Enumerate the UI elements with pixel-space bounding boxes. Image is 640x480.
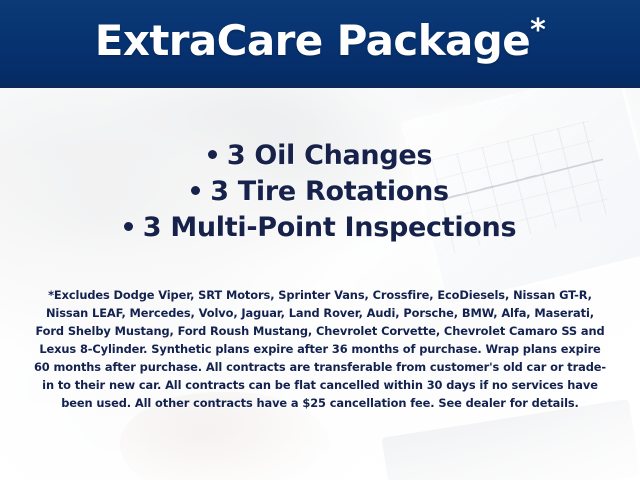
legal-disclaimer: *Excludes Dodge Viper, SRT Motors, Sprin… [30,286,610,412]
benefit-item-multi-point-inspections: 3 Multi-Point Inspections [0,210,640,246]
benefit-label: 3 Multi-Point Inspections [143,212,517,243]
header-banner: ExtraCare Package* [0,0,640,88]
benefit-label: 3 Oil Changes [227,140,432,171]
page-title-asterisk: * [530,13,545,48]
bullet-dot-icon [124,222,133,231]
page-title-text: ExtraCare Package [95,16,530,65]
benefits-list: 3 Oil Changes 3 Tire Rotations 3 Multi-P… [0,138,640,246]
bullet-dot-icon [191,186,200,195]
benefit-label: 3 Tire Rotations [210,176,449,207]
page-title: ExtraCare Package* [95,20,546,66]
benefit-item-tire-rotations: 3 Tire Rotations [0,174,640,210]
benefit-item-oil-changes: 3 Oil Changes [0,138,640,174]
extracare-package-ad: ExtraCare Package* 3 Oil Changes 3 Tire … [0,0,640,480]
bullet-dot-icon [208,150,217,159]
